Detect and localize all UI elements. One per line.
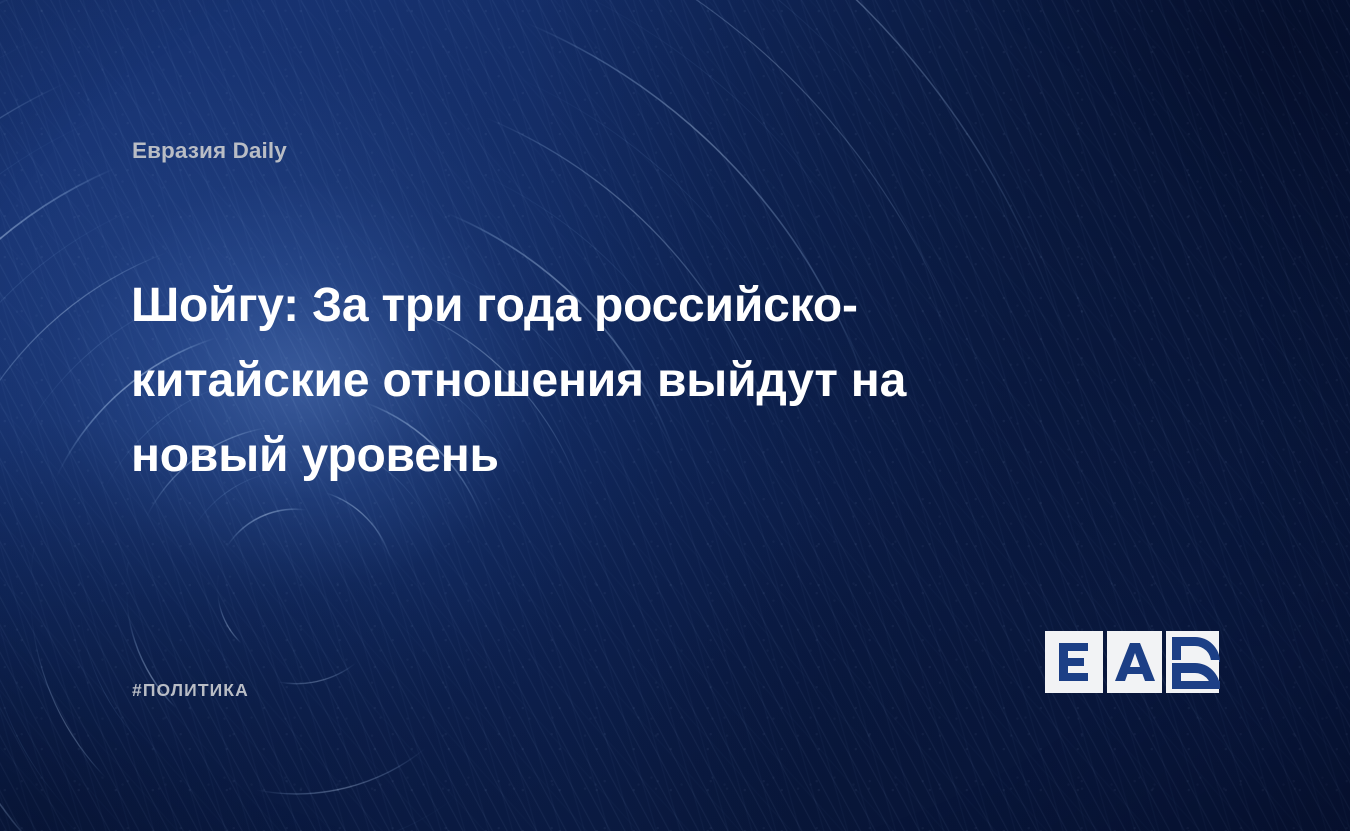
card-content: Евразия Daily Шойгу: За три года российс… xyxy=(0,0,1350,831)
news-share-card: Евразия Daily Шойгу: За три года российс… xyxy=(0,0,1350,831)
ead-monogram-icon xyxy=(1045,631,1225,693)
site-logo-text: Евразия Daily xyxy=(132,138,287,164)
category-hashtag: #ПОЛИТИКА xyxy=(132,680,249,701)
page-title: Шойгу: За три года российско-китайские о… xyxy=(131,268,1061,493)
